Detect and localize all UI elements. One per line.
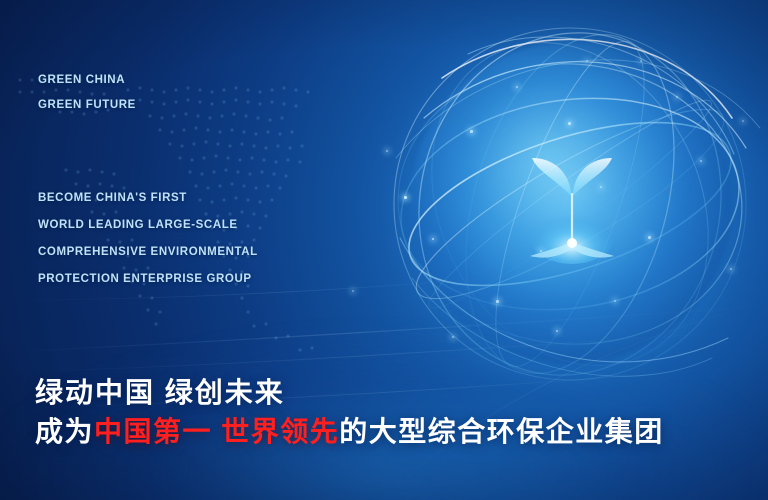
hero-banner: GREEN CHINA GREEN FUTURE BECOME CHINA'S … <box>0 0 768 500</box>
tagline-line-2: GREEN FUTURE <box>38 93 136 118</box>
slogan-line-4: PROTECTION ENTERPRISE GROUP <box>38 266 258 293</box>
headline-chinese-block: 绿动中国 绿创未来 成为中国第一 世界领先的大型综合环保企业集团 <box>35 374 664 452</box>
tagline-line-1: GREEN CHINA <box>38 68 136 93</box>
subline-suffix: 的大型综合环保企业集团 <box>339 416 664 447</box>
tagline-english-top: GREEN CHINA GREEN FUTURE <box>38 68 136 118</box>
slogan-line-1: BECOME CHINA'S FIRST <box>38 185 258 212</box>
subline-prefix: 成为 <box>35 416 94 447</box>
slogan-line-3: COMPREHENSIVE ENVIRONMENTAL <box>38 239 258 266</box>
slogan-english: BECOME CHINA'S FIRST WORLD LEADING LARGE… <box>38 185 258 293</box>
slogan-line-2: WORLD LEADING LARGE-SCALE <box>38 212 258 239</box>
subline-highlight: 中国第一 世界领先 <box>94 416 339 447</box>
subline-chinese: 成为中国第一 世界领先的大型综合环保企业集团 <box>35 412 664 452</box>
headline-chinese: 绿动中国 绿创未来 <box>35 374 664 412</box>
